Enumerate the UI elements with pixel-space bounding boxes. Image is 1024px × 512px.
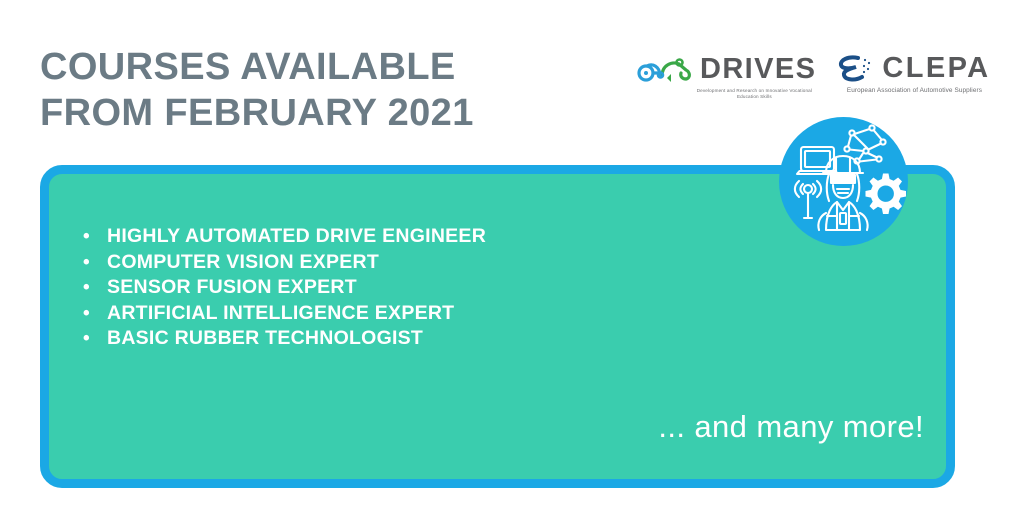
bullet-icon: •: [75, 250, 107, 276]
bullet-icon: •: [75, 301, 107, 327]
clepa-swoosh-stars-icon: [838, 52, 876, 84]
industry-4-0-badge: [779, 117, 908, 246]
logo-bar: DRIVES Development and Research on Innov…: [636, 52, 986, 108]
drives-wordmark: DRIVES: [700, 54, 816, 84]
bullet-icon: •: [75, 326, 107, 352]
page-title: COURSES AVAILABLE FROM FEBRUARY 2021: [40, 44, 600, 136]
course-label: COMPUTER VISION EXPERT: [107, 250, 379, 276]
drives-tagline-wrap: Development and Research on Innovative V…: [636, 86, 816, 100]
course-label: HIGHLY AUTOMATED DRIVE ENGINEER: [107, 224, 486, 250]
course-label: ARTIFICIAL INTELLIGENCE EXPERT: [107, 301, 454, 327]
page-title-line-1: COURSES AVAILABLE: [40, 44, 600, 90]
page-title-line-2: FROM FEBRUARY 2021: [40, 90, 600, 136]
clepa-wordmark: CLEPA: [882, 53, 990, 83]
list-item: • ARTIFICIAL INTELLIGENCE EXPERT: [75, 301, 486, 327]
course-label: SENSOR FUSION EXPERT: [107, 275, 357, 301]
drives-logo-row: DRIVES: [636, 52, 816, 86]
gear-icon: [866, 174, 907, 215]
clepa-logo: CLEPA European Association of Automotive…: [838, 52, 990, 95]
list-item: • BASIC RUBBER TECHNOLOGIST: [75, 326, 486, 352]
drives-tagline: Development and Research on Innovative V…: [694, 88, 814, 100]
list-item: • COMPUTER VISION EXPERT: [75, 250, 486, 276]
bullet-icon: •: [75, 275, 107, 301]
clepa-tagline: European Association of Automotive Suppl…: [847, 87, 982, 95]
antenna-signal-icon: [795, 181, 821, 218]
list-item: • HIGHLY AUTOMATED DRIVE ENGINEER: [75, 224, 486, 250]
engineer-worker-vr-icon: [818, 156, 867, 230]
bullet-icon: •: [75, 224, 107, 250]
clepa-logo-row: CLEPA: [838, 52, 990, 84]
drives-car-circuit-icon: [636, 52, 694, 86]
courses-list: • HIGHLY AUTOMATED DRIVE ENGINEER • COMP…: [75, 224, 486, 352]
course-label: BASIC RUBBER TECHNOLOGIST: [107, 326, 423, 352]
slide-canvas: COURSES AVAILABLE FROM FEBRUARY 2021: [0, 0, 1024, 512]
drives-logo: DRIVES Development and Research on Innov…: [636, 52, 816, 100]
and-many-more-note: ... and many more!: [658, 409, 924, 445]
list-item: • SENSOR FUSION EXPERT: [75, 275, 486, 301]
